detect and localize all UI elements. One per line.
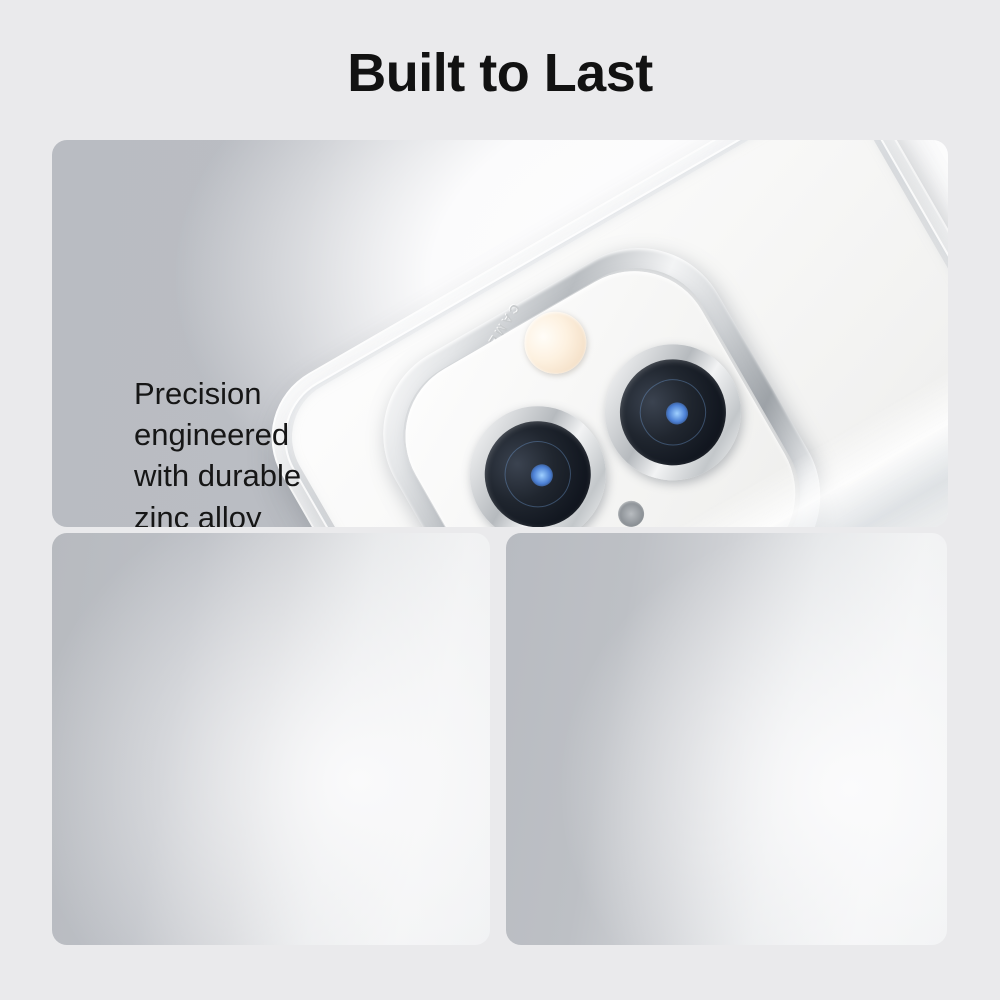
panel-durability: CAMERA GUARD Precision engineered with d… xyxy=(52,140,948,527)
page-title: Built to Last xyxy=(0,42,1000,104)
panel-easy-open: Easy to open xyxy=(52,533,490,945)
phone-case-camera-closeup: CAMERA GUARD xyxy=(271,140,948,527)
product-feature-infographic: Built to Last CAMERA GUARD xyxy=(0,0,1000,1000)
caption-durability: Precision engineered with durable zinc a… xyxy=(134,373,301,527)
panel-durability-test: Tested to withstand 3,000 uses xyxy=(506,533,947,945)
